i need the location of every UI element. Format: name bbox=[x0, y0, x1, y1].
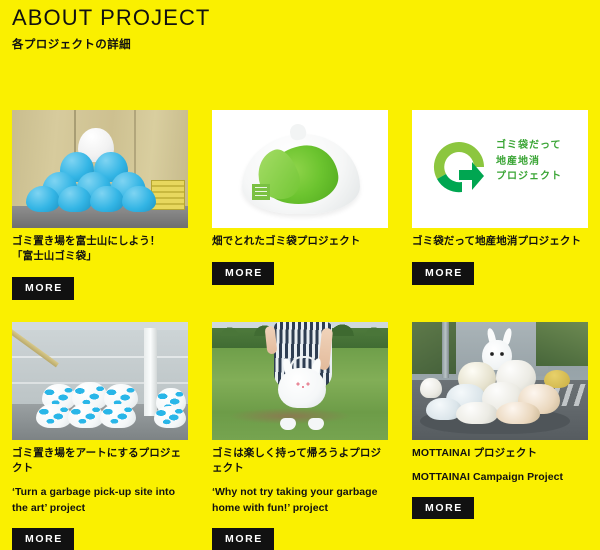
utility-pole bbox=[442, 322, 449, 378]
patterned-bag bbox=[100, 404, 136, 428]
project-title: 畑でとれたゴミ袋プロジェクト bbox=[212, 234, 388, 249]
wooden-crate bbox=[151, 180, 185, 210]
project-title: ゴミは楽しく持って帰ろうよプロジェクト bbox=[212, 446, 388, 476]
scene-cabbage-bag bbox=[212, 110, 388, 228]
project-card[interactable]: ゴミ袋だって 地産地消 プロジェクト ゴミ袋だって地産地消プロジェクト MORE bbox=[412, 110, 588, 285]
blue-bag bbox=[90, 186, 124, 212]
blue-bag bbox=[122, 186, 156, 212]
more-button[interactable]: MORE bbox=[12, 277, 74, 300]
scene-street-garbage-pile bbox=[412, 322, 588, 440]
project-thumbnail-art-site[interactable] bbox=[12, 322, 188, 440]
project-subtitle: MOTTAINAI Campaign Project bbox=[412, 470, 588, 486]
scene-girl-with-bunny-bag bbox=[212, 322, 388, 440]
project-title: ゴミ置き場をアートにするプロジェクト bbox=[12, 446, 188, 476]
project-thumbnail-bunny-bag[interactable] bbox=[212, 322, 388, 440]
blue-bag bbox=[58, 186, 92, 212]
scene-mt-fuji-bags bbox=[12, 110, 188, 228]
more-button[interactable]: MORE bbox=[412, 262, 474, 285]
about-project-page: ABOUT PROJECT 各プロジェクトの詳細 bbox=[0, 0, 600, 543]
bunny-eyes bbox=[490, 352, 504, 356]
project-title: MOTTAINAI プロジェクト bbox=[412, 446, 588, 461]
project-thumbnail-field-bag[interactable] bbox=[212, 110, 388, 228]
blue-bag bbox=[26, 186, 60, 212]
garbage-bag bbox=[456, 402, 498, 424]
more-button[interactable]: MORE bbox=[212, 262, 274, 285]
foliage-right bbox=[536, 322, 588, 366]
scene-recycle-logo: ゴミ袋だって 地産地消 プロジェクト bbox=[412, 110, 588, 228]
project-thumbnail-logo[interactable]: ゴミ袋だって 地産地消 プロジェクト bbox=[412, 110, 588, 228]
recycle-g-logo-icon bbox=[428, 136, 490, 198]
project-card[interactable]: ゴミ置き場を富士山にしよう！ 「富士山ゴミ袋」 MORE bbox=[12, 110, 188, 300]
project-subtitle: ‘Turn a garbage pick-up site into the ar… bbox=[12, 485, 188, 517]
more-button[interactable]: MORE bbox=[12, 528, 74, 550]
bunny-shaped-bag bbox=[278, 368, 326, 408]
garbage-bag bbox=[496, 402, 540, 424]
project-subtitle: ‘Why not try taking your garbage home wi… bbox=[212, 485, 388, 517]
patterned-bag bbox=[68, 404, 104, 428]
project-card[interactable]: ゴミは楽しく持って帰ろうよプロジェクト ‘Why not try taking … bbox=[212, 322, 388, 550]
project-card[interactable]: ゴミ置き場をアートにするプロジェクト ‘Turn a garbage pick-… bbox=[12, 322, 188, 550]
more-button[interactable]: MORE bbox=[412, 497, 474, 520]
more-button[interactable]: MORE bbox=[212, 528, 274, 550]
foliage-left bbox=[412, 322, 456, 374]
shoe bbox=[308, 418, 324, 430]
logo-text: ゴミ袋だって 地産地消 プロジェクト bbox=[496, 138, 580, 185]
project-card-grid: ゴミ置き場を富士山にしよう！ 「富士山ゴミ袋」 MORE 畑でとれたゴミ袋プロジ… bbox=[0, 0, 600, 543]
project-thumbnail-mt-fuji[interactable] bbox=[12, 110, 188, 228]
project-thumbnail-mottainai[interactable] bbox=[412, 322, 588, 440]
shoe bbox=[280, 418, 296, 430]
patterned-bag bbox=[36, 404, 72, 428]
bunny-face bbox=[296, 382, 310, 388]
patterned-bag bbox=[154, 406, 186, 428]
green-label-tag bbox=[252, 184, 270, 200]
garbage-bag bbox=[420, 378, 442, 398]
scene-art-bags bbox=[12, 322, 188, 440]
project-title: ゴミ置き場を富士山にしよう！ 「富士山ゴミ袋」 bbox=[12, 234, 188, 264]
project-card[interactable]: MOTTAINAI プロジェクト MOTTAINAI Campaign Proj… bbox=[412, 322, 588, 519]
project-title: ゴミ袋だって地産地消プロジェクト bbox=[412, 234, 588, 249]
project-card[interactable]: 畑でとれたゴミ袋プロジェクト MORE bbox=[212, 110, 388, 285]
